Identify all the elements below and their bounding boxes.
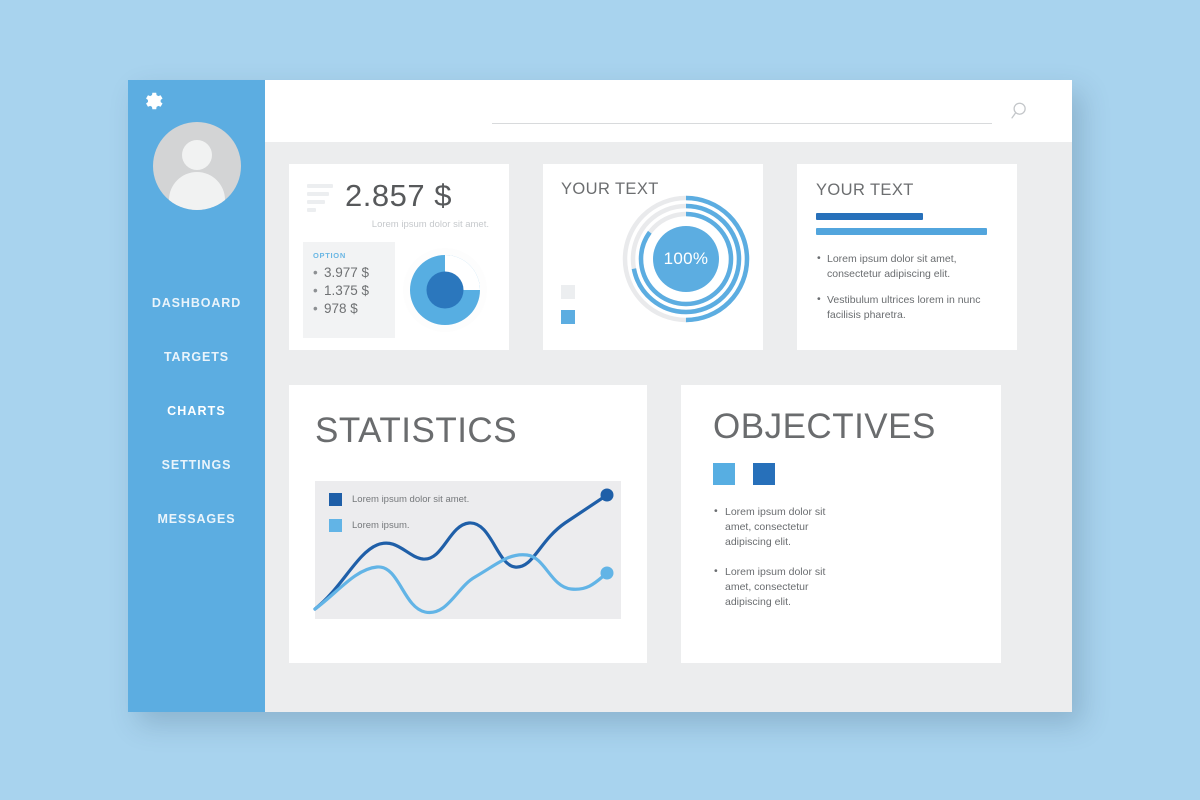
legend-swatch-light [329, 519, 342, 532]
line-endpoint-light [601, 567, 614, 580]
legend-item: Lorem ipsum. [329, 519, 469, 532]
text-bullet-list: Lorem ipsum dolor sit amet, consectetur … [816, 252, 1000, 323]
list-item: 1.375 $ [313, 283, 387, 298]
avatar-body-shape [169, 172, 225, 210]
rings-chart-container: 100% [621, 194, 751, 329]
legend-swatch-dark [329, 493, 342, 506]
metric-body: OPTION 3.977 $ 1.375 $ 978 $ [303, 242, 495, 338]
metric-value: 2.857 $ [345, 178, 452, 214]
donut-chart-container [395, 242, 495, 338]
app-window: DASHBOARD TARGETS CHARTS SETTINGS MESSAG… [128, 80, 1072, 712]
content-area: 2.857 $ Lorem ipsum dolor sit amet. OPTI… [265, 142, 1072, 712]
sidebar-item-targets[interactable]: TARGETS [128, 330, 265, 384]
option-label: OPTION [313, 251, 387, 260]
sidebar: DASHBOARD TARGETS CHARTS SETTINGS MESSAG… [128, 80, 265, 712]
top-bar [265, 80, 1072, 142]
gear-icon[interactable] [142, 90, 164, 112]
objectives-legend [713, 463, 979, 485]
cards-row-top: 2.857 $ Lorem ipsum dolor sit amet. OPTI… [289, 164, 1048, 350]
list-item: 978 $ [313, 301, 387, 316]
search-input[interactable] [492, 99, 992, 124]
search-container [293, 99, 1044, 124]
legend-item: Lorem ipsum dolor sit amet. [329, 493, 469, 506]
list-item: Lorem ipsum dolor sit amet, consectetur … [713, 565, 831, 611]
search-icon[interactable] [1010, 100, 1032, 122]
card-objectives: OBJECTIVES Lorem ipsum dolor sit amet, c… [681, 385, 1001, 663]
rings-legend [561, 285, 575, 324]
progress-bar-light [816, 228, 987, 235]
metric-header: 2.857 $ [303, 178, 495, 214]
sidebar-item-charts[interactable]: CHARTS [128, 384, 265, 438]
card-rings: YOUR TEXT [543, 164, 763, 350]
list-item: Vestibulum ultrices lorem in nunc facili… [816, 293, 1000, 323]
page-root: DASHBOARD TARGETS CHARTS SETTINGS MESSAG… [0, 0, 1200, 800]
cards-row-bottom: STATISTICS Lorem i [289, 385, 1048, 663]
card-text: YOUR TEXT Lorem ipsum dolor sit amet, co… [797, 164, 1017, 350]
list-item: 3.977 $ [313, 265, 387, 280]
metric-subtitle: Lorem ipsum dolor sit amet. [303, 219, 489, 230]
legend-swatch-light [713, 463, 735, 485]
list-item: Lorem ipsum dolor sit amet, consectetur … [713, 505, 831, 551]
objectives-body: Lorem ipsum dolor sit amet, consectetur … [713, 505, 979, 624]
sidebar-item-messages[interactable]: MESSAGES [128, 492, 265, 546]
donut-chart [402, 247, 488, 333]
legend-swatch-gray [561, 285, 575, 299]
avatar[interactable] [153, 122, 241, 210]
card-statistics-title: STATISTICS [315, 411, 623, 451]
card-text-title: YOUR TEXT [816, 181, 1000, 200]
option-list: 3.977 $ 1.375 $ 978 $ [313, 265, 387, 316]
progress-bars [816, 213, 1000, 235]
sidebar-item-settings[interactable]: SETTINGS [128, 438, 265, 492]
progress-bar-dark [816, 213, 923, 220]
rings-center-value: 100% [664, 249, 709, 269]
line-chart-legend: Lorem ipsum dolor sit amet. Lorem ipsum. [329, 493, 469, 545]
legend-label: Lorem ipsum dolor sit amet. [352, 494, 469, 505]
list-item: Lorem ipsum dolor sit amet, consectetur … [816, 252, 1000, 282]
bars-list-icon [307, 180, 333, 212]
legend-label: Lorem ipsum. [352, 520, 410, 531]
card-statistics: STATISTICS Lorem i [289, 385, 647, 663]
legend-swatch-blue [561, 310, 575, 324]
sidebar-nav: DASHBOARD TARGETS CHARTS SETTINGS MESSAG… [128, 276, 265, 546]
avatar-head-shape [182, 140, 212, 170]
main-pane: 2.857 $ Lorem ipsum dolor sit amet. OPTI… [265, 80, 1072, 712]
line-series-light [315, 555, 607, 613]
legend-swatch-dark [753, 463, 775, 485]
card-objectives-title: OBJECTIVES [713, 407, 979, 447]
sidebar-item-dashboard[interactable]: DASHBOARD [128, 276, 265, 330]
objectives-bullet-list: Lorem ipsum dolor sit amet, consectetur … [713, 505, 831, 624]
line-endpoint-dark [601, 489, 614, 502]
option-box: OPTION 3.977 $ 1.375 $ 978 $ [303, 242, 395, 338]
card-metric: 2.857 $ Lorem ipsum dolor sit amet. OPTI… [289, 164, 509, 350]
donut-inner-circle [427, 272, 464, 309]
line-chart-container: Lorem ipsum dolor sit amet. Lorem ipsum. [315, 481, 621, 619]
